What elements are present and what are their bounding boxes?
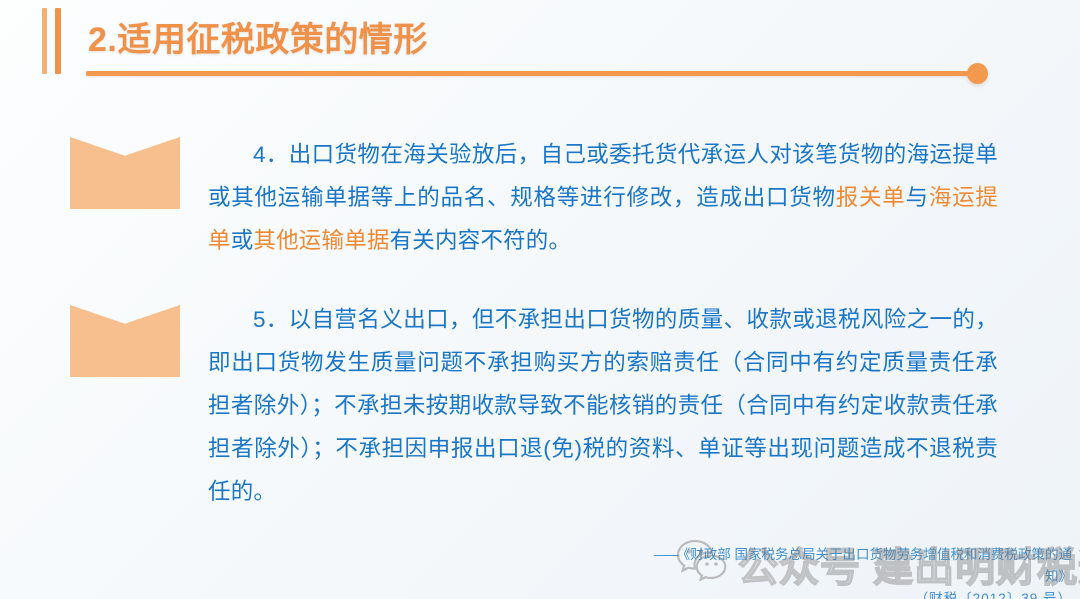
item-run-5-0: 以自营名义出口，但不承担出口货物的质量、收款或退税风险之一的，即出口货物发生质量… — [208, 307, 998, 504]
body-paragraph-5: 5．以自营名义出口，但不承担出口货物的质量、收款或退税风险之一的，即出口货物发生… — [208, 298, 998, 513]
title-accent-bar-inner — [55, 8, 61, 74]
item-run-4-2: 与 — [906, 185, 929, 210]
citation-dash: —— — [654, 547, 677, 562]
item-run-4-6: 有关内容不符的。 — [390, 228, 572, 253]
header-endpoint-dot-icon — [967, 63, 988, 84]
item-run-4-1: 报关单 — [836, 185, 906, 210]
item-number-5: 5． — [253, 307, 289, 332]
item-run-4-5: 其他运输单据 — [253, 228, 389, 253]
citation-block: ——《财政部 国家税务总局关于出口货物劳务增值税和消费税政策的通知》 （财税〔2… — [652, 544, 1072, 599]
citation-document-number: （财税〔2012〕39 号） — [652, 588, 1072, 599]
title-accent-bar-outer — [42, 8, 47, 74]
citation-source: 《财政部 国家税务总局关于出口货物劳务增值税和消费税政策的通知》 — [677, 547, 1072, 584]
chevron-bullet-icon-1 — [70, 137, 180, 209]
item-run-4-4: 或 — [231, 228, 254, 253]
header-divider-line — [86, 71, 976, 76]
page-title: 2.适用征税政策的情形 — [88, 12, 428, 61]
slide-header: 2.适用征税政策的情形 — [0, 0, 1080, 110]
chevron-bullet-icon-2 — [70, 305, 180, 377]
item-number-4: 4． — [253, 142, 289, 167]
body-paragraph-4: 4．出口货物在海关验放后，自己或委托货代承运人对该笔货物的海运提单或其他运输单据… — [208, 133, 998, 262]
slide-canvas: 2.适用征税政策的情形 4．出口货物在海关验放后，自己或委托货代承运人对该笔货物… — [0, 0, 1080, 599]
